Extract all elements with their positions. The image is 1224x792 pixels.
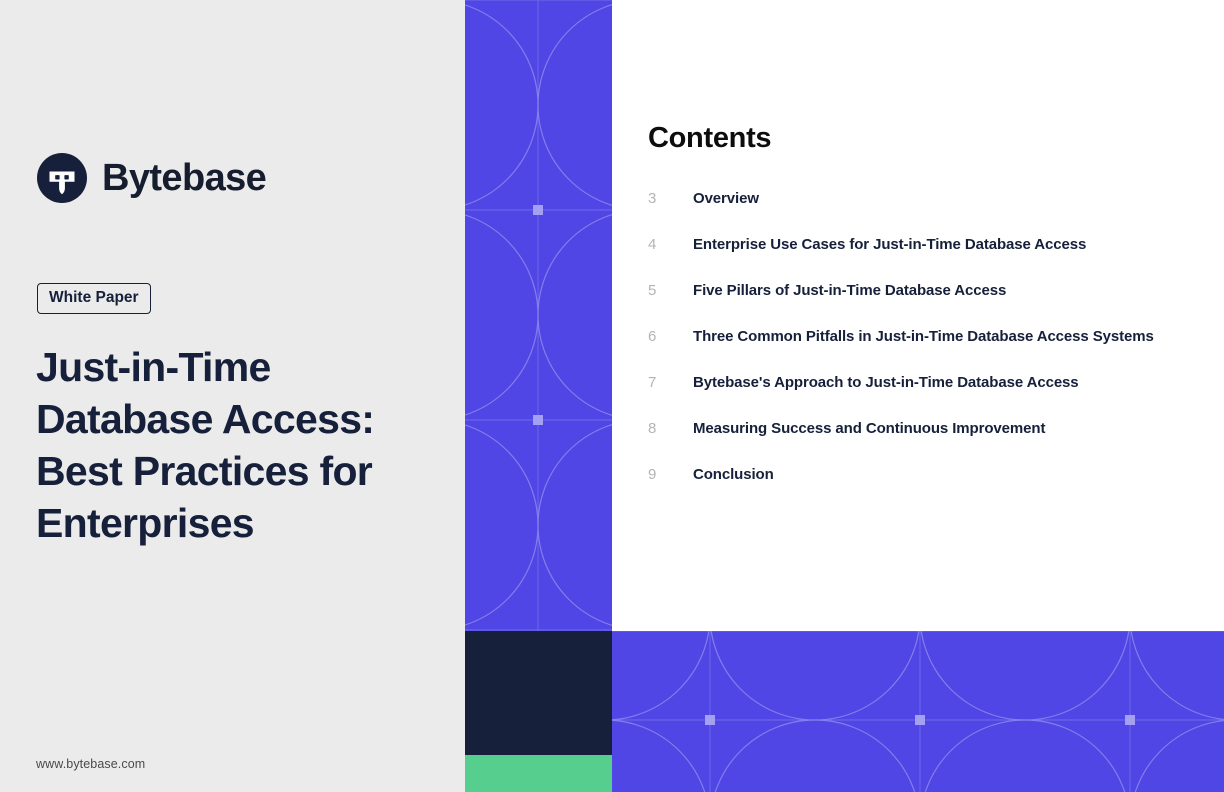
toc-entry-title[interactable]: Enterprise Use Cases for Just-in-Time Da… — [693, 236, 1086, 253]
toc-entry-title[interactable]: Overview — [693, 190, 759, 207]
table-of-contents: 3Overview4Enterprise Use Cases for Just-… — [648, 190, 1214, 512]
site-url: www.bytebase.com — [36, 757, 145, 771]
contents-panel: Contents 3Overview4Enterprise Use Cases … — [612, 0, 1224, 631]
toc-entry[interactable]: 7Bytebase's Approach to Just-in-Time Dat… — [648, 374, 1214, 420]
toc-page-number: 3 — [648, 190, 693, 207]
cover-panel: Bytebase White Paper Just-in-Time Databa… — [0, 0, 465, 792]
toc-entry-title[interactable]: Bytebase's Approach to Just-in-Time Data… — [693, 374, 1079, 391]
toc-entry-title[interactable]: Three Common Pitfalls in Just-in-Time Da… — [693, 328, 1154, 345]
contents-heading: Contents — [648, 122, 771, 155]
brand-logo: Bytebase — [36, 152, 266, 204]
toc-entry[interactable]: 5Five Pillars of Just-in-Time Database A… — [648, 282, 1214, 328]
decorative-navy-block — [465, 631, 612, 755]
toc-entry[interactable]: 4Enterprise Use Cases for Just-in-Time D… — [648, 236, 1214, 282]
brand-name: Bytebase — [102, 159, 266, 197]
toc-entry-title[interactable]: Measuring Success and Continuous Improve… — [693, 420, 1045, 437]
decorative-green-block — [465, 755, 612, 792]
toc-entry[interactable]: 9Conclusion — [648, 466, 1214, 512]
toc-entry[interactable]: 6Three Common Pitfalls in Just-in-Time D… — [648, 328, 1214, 374]
decorative-purple-strip — [465, 0, 612, 631]
bytebase-logo-icon — [36, 152, 88, 204]
toc-page-number: 8 — [648, 420, 693, 437]
toc-page-number: 4 — [648, 236, 693, 253]
circle-grid-pattern — [465, 0, 612, 631]
toc-entry-title[interactable]: Conclusion — [693, 466, 774, 483]
circle-grid-pattern-bottom — [612, 631, 1224, 792]
toc-page-number: 6 — [648, 328, 693, 345]
toc-page-number: 9 — [648, 466, 693, 483]
toc-entry[interactable]: 3Overview — [648, 190, 1214, 236]
toc-page-number: 7 — [648, 374, 693, 391]
page-title: Just-in-Time Database Access: Best Pract… — [36, 341, 436, 549]
toc-entry[interactable]: 8Measuring Success and Continuous Improv… — [648, 420, 1214, 466]
white-paper-badge: White Paper — [37, 283, 151, 314]
toc-entry-title[interactable]: Five Pillars of Just-in-Time Database Ac… — [693, 282, 1006, 299]
toc-page-number: 5 — [648, 282, 693, 299]
decorative-purple-bottom — [612, 631, 1224, 792]
